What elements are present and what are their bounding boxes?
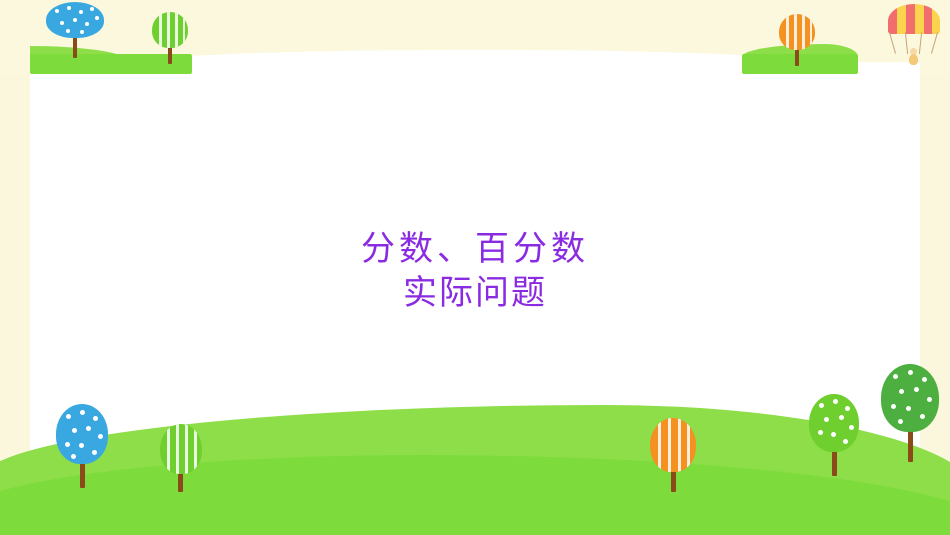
tree-crown [779, 14, 815, 50]
tree-orange-striped-bottom [648, 418, 700, 490]
parachutist-body [909, 54, 918, 65]
tree-green-striped-bottom [156, 424, 206, 490]
parachute-canopy [888, 4, 940, 34]
tree-blue-dotted-bottom [52, 404, 114, 488]
tree-crown [160, 424, 202, 474]
tree-crown [881, 364, 939, 432]
tree-blue-dotted-top [40, 2, 110, 60]
tree-green-dotted-small [806, 394, 864, 476]
tree-orange-striped-top [775, 14, 821, 62]
tree-crown [56, 404, 108, 464]
tree-crown [152, 12, 188, 48]
slide-canvas: 分数、百分数 实际问题 [0, 0, 950, 535]
tree-crown [809, 394, 859, 452]
title-line-2: 实际问题 [0, 272, 950, 316]
tree-green-dotted-large [878, 364, 944, 464]
parachute-icon [886, 4, 944, 72]
tree-crown [650, 418, 696, 472]
slide-title: 分数、百分数 实际问题 [0, 228, 950, 315]
tree-crown [46, 2, 104, 38]
title-line-1: 分数、百分数 [0, 228, 950, 272]
tree-green-striped-top [146, 12, 196, 62]
